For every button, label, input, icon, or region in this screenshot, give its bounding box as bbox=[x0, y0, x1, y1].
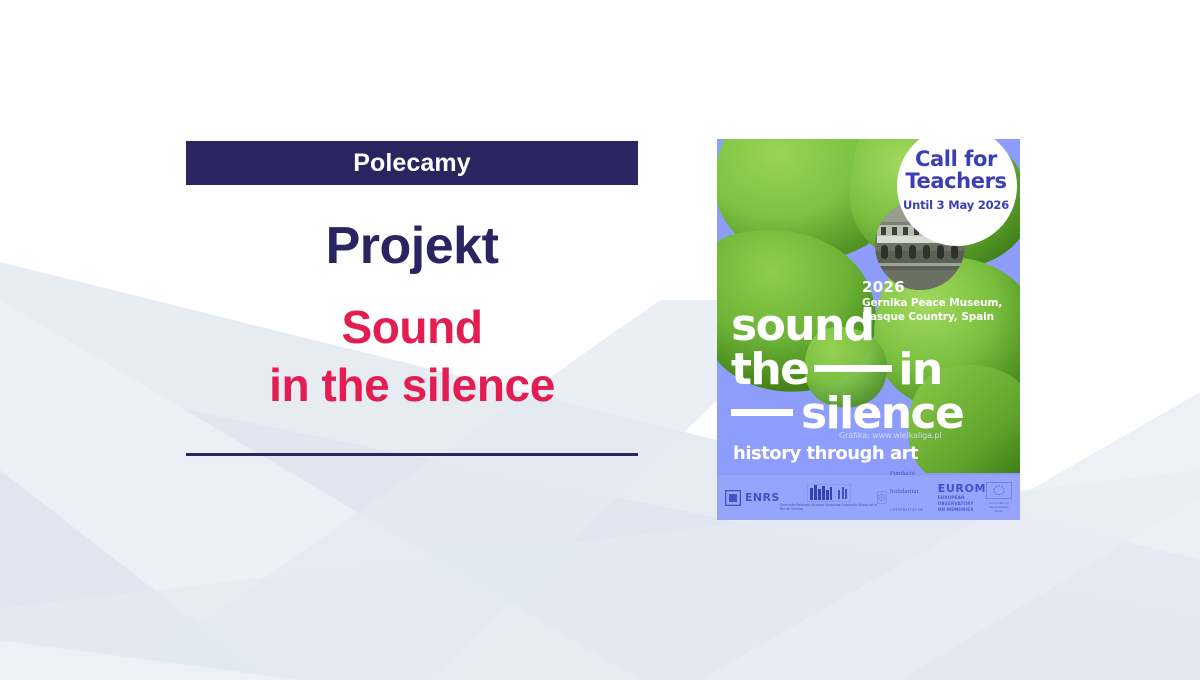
section-label-bar: Polecamy bbox=[186, 141, 638, 185]
poster-image[interactable]: Call for Teachers Until 3 May 2026 2026 … bbox=[717, 139, 1020, 520]
poster-artwork bbox=[717, 139, 1020, 520]
article-kicker: Projekt bbox=[186, 219, 638, 274]
article-text-column: Polecamy Projekt Sound in the silence bbox=[186, 141, 638, 456]
divider-rule bbox=[186, 453, 638, 456]
article-title[interactable]: Sound in the silence bbox=[186, 298, 638, 416]
article-title-line-1: Sound bbox=[186, 298, 638, 357]
section-label-text: Polecamy bbox=[353, 151, 471, 176]
article-title-line-2: in the silence bbox=[186, 356, 638, 415]
promo-card: Polecamy Projekt Sound in the silence bbox=[0, 0, 1200, 680]
